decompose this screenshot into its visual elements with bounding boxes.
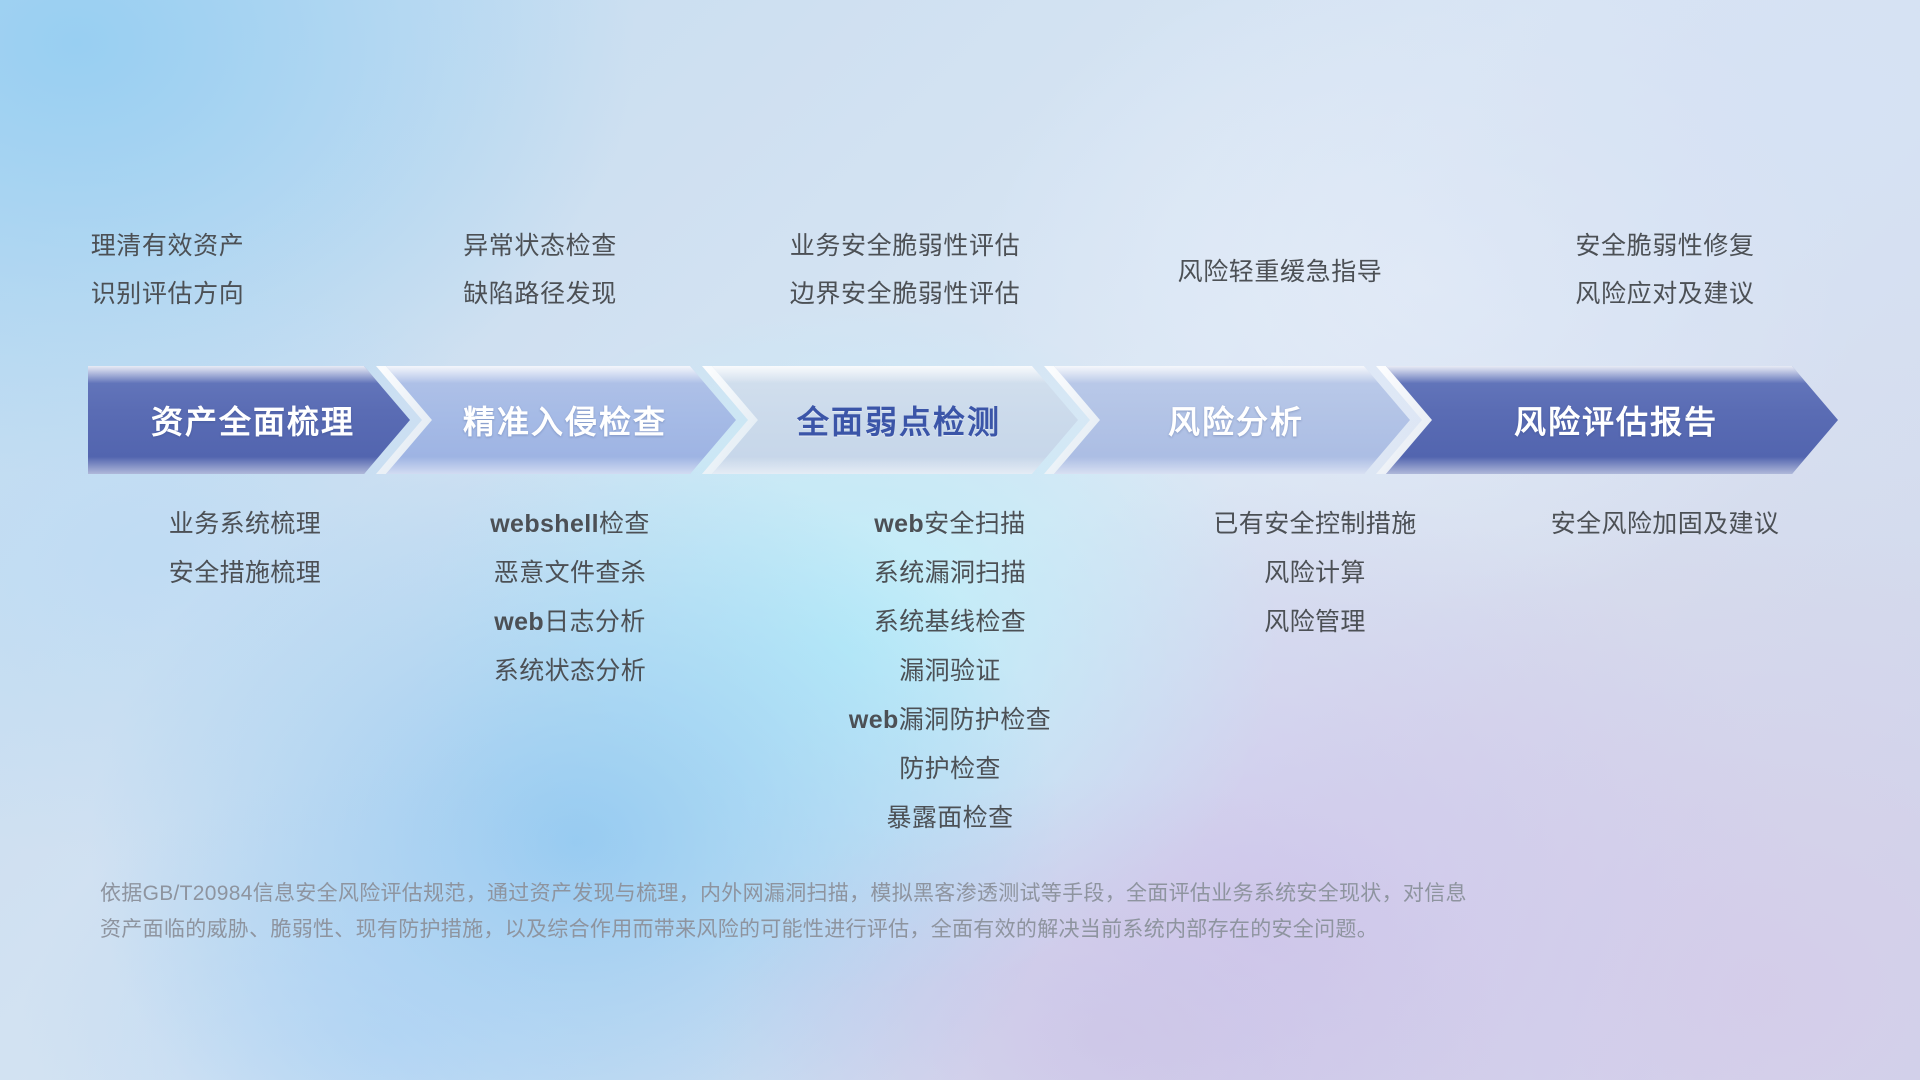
stage-arrow-5[interactable]: 风险评估报告 xyxy=(1386,366,1838,474)
task-item: 风险管理 xyxy=(1264,598,1366,647)
stage-title-2: 精准入侵检查 xyxy=(455,397,667,443)
process-arrow-band: 资产全面梳理 精准入侵检查 全面弱点检测 风险分析 风险评估报告 xyxy=(88,366,1838,474)
task-item: 漏洞验证 xyxy=(899,647,1001,696)
stage-outputs-1: 理清有效资产 识别评估方向 xyxy=(0,222,365,332)
task-item: 已有安全控制措施 xyxy=(1213,500,1416,549)
output-label: 安全脆弱性修复 xyxy=(1575,222,1754,270)
footer-line-1: 依据GB/T20984信息安全风险评估规范，通过资产发现与梳理，内外网漏洞扫描，… xyxy=(100,876,1800,912)
task-item: web漏洞防护检查 xyxy=(849,696,1051,745)
output-label: 缺陷路径发现 xyxy=(463,270,617,318)
stage-title-4: 风险分析 xyxy=(1160,397,1304,443)
task-item: webshell检查 xyxy=(490,500,650,549)
stage-outputs-2: 异常状态检查 缺陷路径发现 xyxy=(365,222,715,332)
task-item: web安全扫描 xyxy=(874,500,1025,549)
task-item: 恶意文件查杀 xyxy=(494,549,646,598)
task-item: web日志分析 xyxy=(494,598,645,647)
output-label: 风险轻重缓急指导 xyxy=(1178,248,1383,296)
stage-arrow-4[interactable]: 风险分析 xyxy=(1054,366,1410,474)
task-item: 系统状态分析 xyxy=(494,647,646,696)
task-item: 业务系统梳理 xyxy=(169,500,321,549)
output-label: 识别评估方向 xyxy=(91,270,245,318)
stage-title-3: 全面弱点检测 xyxy=(789,397,1001,443)
stage-tasks-2: webshell检查 恶意文件查杀 web日志分析 系统状态分析 xyxy=(390,500,750,696)
task-item: 系统漏洞扫描 xyxy=(874,549,1026,598)
stage-outputs-3: 业务安全脆弱性评估 边界安全脆弱性评估 xyxy=(715,222,1095,332)
footer-line-2: 资产面临的威胁、脆弱性、现有防护措施，以及综合作用而带来风险的可能性进行评估，全… xyxy=(100,912,1800,948)
footer-note: 依据GB/T20984信息安全风险评估规范，通过资产发现与梳理，内外网漏洞扫描，… xyxy=(100,876,1800,948)
output-label: 边界安全脆弱性评估 xyxy=(790,270,1020,318)
stage-outputs-row: 理清有效资产 识别评估方向 异常状态检查 缺陷路径发现 业务安全脆弱性评估 边界… xyxy=(0,222,1920,332)
task-item: 风险计算 xyxy=(1264,549,1366,598)
stage-title-5: 风险评估报告 xyxy=(1506,397,1718,443)
output-label: 业务安全脆弱性评估 xyxy=(790,222,1020,270)
stage-arrow-1[interactable]: 资产全面梳理 xyxy=(88,366,410,474)
task-item: 暴露面检查 xyxy=(886,794,1013,843)
stage-title-1: 资产全面梳理 xyxy=(143,397,355,443)
stage-tasks-5: 安全风险加固及建议 xyxy=(1465,500,1865,549)
stage-tasks-3: web安全扫描 系统漏洞扫描 系统基线检查 漏洞验证 web漏洞防护检查 防护检… xyxy=(750,500,1150,843)
output-label: 理清有效资产 xyxy=(91,222,245,270)
stage-outputs-4: 风险轻重缓急指导 xyxy=(1095,222,1465,322)
task-item: 安全措施梳理 xyxy=(169,549,321,598)
process-diagram: 理清有效资产 识别评估方向 异常状态检查 缺陷路径发现 业务安全脆弱性评估 边界… xyxy=(0,0,1920,1080)
task-item: 防护检查 xyxy=(899,745,1001,794)
stage-tasks-4: 已有安全控制措施 风险计算 风险管理 xyxy=(1135,500,1495,647)
task-item: 系统基线检查 xyxy=(874,598,1026,647)
stage-tasks-1: 业务系统梳理 安全措施梳理 xyxy=(65,500,425,598)
stage-outputs-5: 安全脆弱性修复 风险应对及建议 xyxy=(1465,222,1865,332)
output-label: 异常状态检查 xyxy=(463,222,617,270)
task-item: 安全风险加固及建议 xyxy=(1551,500,1780,549)
stage-arrow-2[interactable]: 精准入侵检查 xyxy=(386,366,736,474)
stage-arrow-3[interactable]: 全面弱点检测 xyxy=(712,366,1078,474)
output-label: 风险应对及建议 xyxy=(1575,270,1754,318)
